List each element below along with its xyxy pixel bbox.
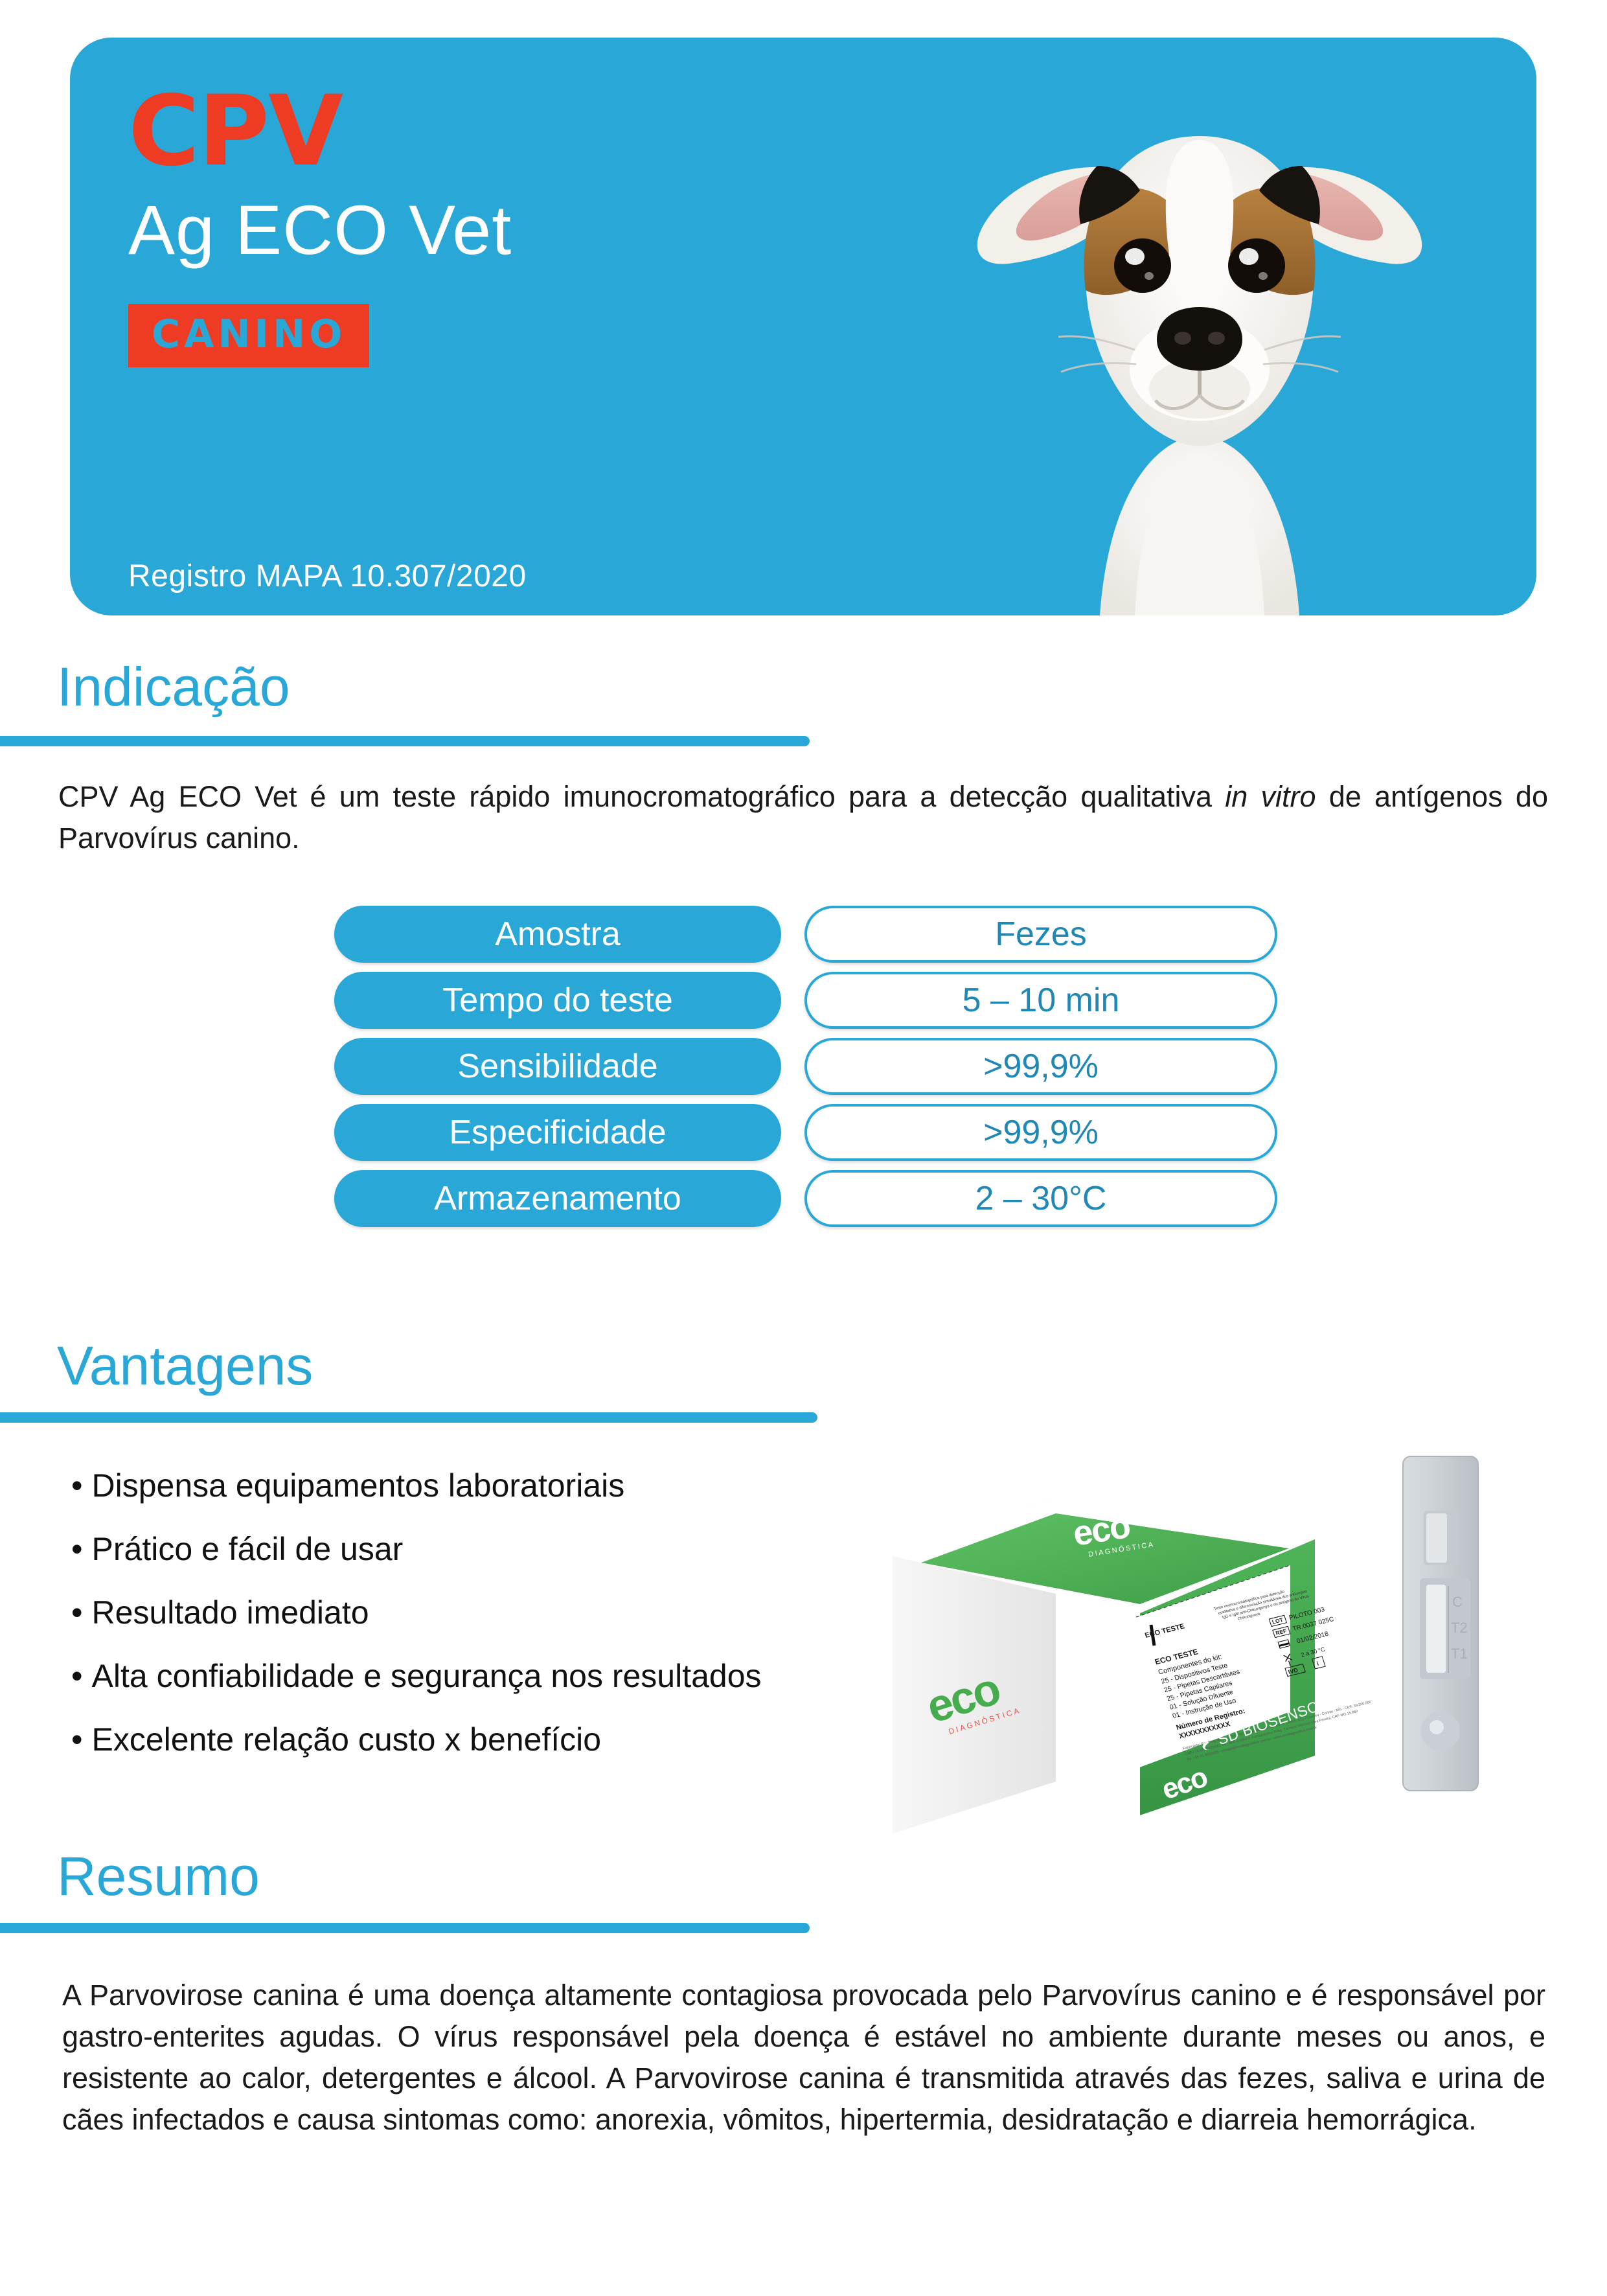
header-title-block: CPV Ag ECO Vet CANINO: [128, 83, 906, 367]
bullet-icon: •: [71, 1658, 83, 1694]
dog-photo: [940, 45, 1459, 615]
vantagens-list: •Dispensa equipamentos laboratoriais •Pr…: [71, 1467, 762, 1784]
list-item: •Prático e fácil de usar: [71, 1530, 762, 1568]
table-row: Armazenamento 2 – 30°C: [334, 1170, 1280, 1227]
spec-value-tempo-do-teste: 5 – 10 min: [804, 972, 1277, 1029]
bullet-icon: •: [71, 1721, 83, 1758]
spec-label-armazenamento: Armazenamento: [334, 1170, 781, 1227]
indicacao-text-1: CPV Ag ECO Vet é um teste rápido imunocr…: [58, 780, 1225, 813]
cassette-marker-t1: T1: [1451, 1646, 1468, 1662]
section-rule-resumo: [0, 1923, 810, 1933]
spec-label-especificidade: Especificidade: [334, 1104, 781, 1161]
product-code: CPV: [128, 83, 906, 180]
spec-label-tempo-do-teste: Tempo do teste: [334, 972, 781, 1029]
spec-value-amostra: Fezes: [804, 906, 1277, 963]
list-item: •Excelente relação custo x benefício: [71, 1721, 762, 1758]
vantagem-text: Excelente relação custo x benefício: [92, 1721, 602, 1758]
spec-value-sensibilidade: >99,9%: [804, 1038, 1277, 1095]
cassette-marker-c: C: [1452, 1594, 1463, 1610]
list-item: •Dispensa equipamentos laboratoriais: [71, 1467, 762, 1504]
bullet-icon: •: [71, 1594, 83, 1631]
vantagem-text: Alta confiabilidade e segurança nos resu…: [92, 1658, 762, 1694]
product-illustration-svg: eco DIAGNÓSTICA eco DIAGNÓSTICA eco ECO …: [861, 1419, 1522, 1833]
product-name: Ag ECO Vet: [128, 192, 906, 269]
vantagem-text: Dispensa equipamentos laboratoriais: [92, 1467, 625, 1504]
list-item: •Resultado imediato: [71, 1594, 762, 1631]
section-title-vantagens: Vantagens: [57, 1335, 313, 1397]
header-banner: CPV Ag ECO Vet CANINO Registro MAPA 10.3…: [70, 38, 1536, 615]
registration-number: Registro MAPA 10.307/2020: [128, 558, 527, 594]
section-rule-indicacao: [0, 736, 810, 746]
table-row: Especificidade >99,9%: [334, 1104, 1280, 1161]
section-title-resumo: Resumo: [57, 1845, 260, 1908]
spec-value-especificidade: >99,9%: [804, 1104, 1277, 1161]
section-rule-vantagens: [0, 1412, 817, 1423]
bullet-icon: •: [71, 1467, 83, 1504]
specifications-table: Amostra Fezes Tempo do teste 5 – 10 min …: [334, 906, 1280, 1236]
resumo-paragraph: A Parvovirose canina é uma doença altame…: [62, 1975, 1545, 2141]
spec-value-armazenamento: 2 – 30°C: [804, 1170, 1277, 1227]
spec-label-sensibilidade: Sensibilidade: [334, 1038, 781, 1095]
label-manual-icon: i: [1316, 1660, 1320, 1667]
section-title-indicacao: Indicação: [57, 656, 290, 718]
indicacao-paragraph: CPV Ag ECO Vet é um teste rápido imunocr…: [58, 776, 1548, 859]
cassette-marker-t2: T2: [1451, 1620, 1468, 1636]
table-row: Tempo do teste 5 – 10 min: [334, 972, 1280, 1029]
product-photo: eco DIAGNÓSTICA eco DIAGNÓSTICA eco ECO …: [861, 1419, 1522, 1833]
vantagem-text: Resultado imediato: [92, 1594, 369, 1631]
spec-label-amostra: Amostra: [334, 906, 781, 963]
list-item: •Alta confiabilidade e segurança nos res…: [71, 1657, 762, 1695]
species-badge: CANINO: [128, 304, 369, 367]
vantagem-text: Prático e fácil de usar: [92, 1531, 404, 1567]
test-cassette: C T2 T1: [1403, 1456, 1478, 1791]
indicacao-italic: in vitro: [1225, 780, 1316, 813]
dog-illustration-svg: [940, 45, 1459, 615]
bullet-icon: •: [71, 1531, 83, 1567]
table-row: Amostra Fezes: [334, 906, 1280, 963]
table-row: Sensibilidade >99,9%: [334, 1038, 1280, 1095]
